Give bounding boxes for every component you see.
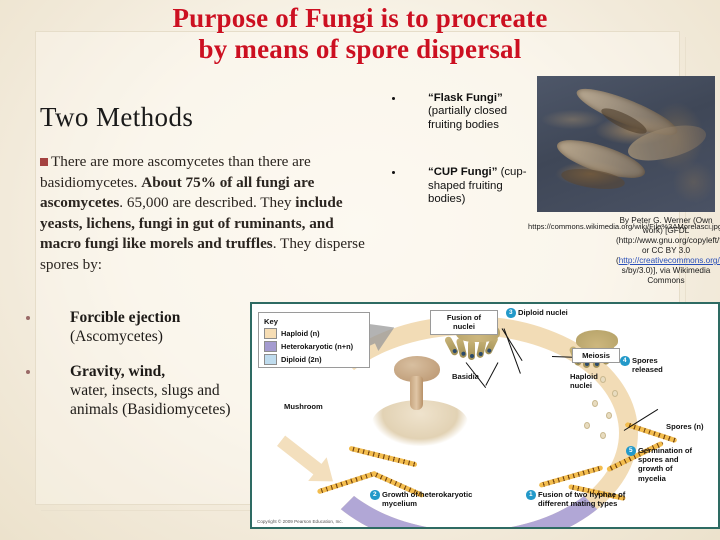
title-line-2: by means of spore dispersal	[60, 34, 660, 65]
basidium	[468, 340, 475, 360]
license-link[interactable]: http://creativecommons.org/license	[619, 256, 720, 265]
bullet-rest-text: (partially closed fruiting bodies	[428, 105, 507, 130]
bullet-bold-label: “Flask Fungi”	[428, 92, 503, 104]
step-badge: 5	[626, 446, 636, 456]
dispersal-methods-list: Forcible ejection (Ascomycetes) Gravity,…	[22, 308, 252, 435]
two-methods-heading: Two Methods	[40, 102, 193, 133]
round-bullet-icon	[392, 171, 395, 174]
round-bullet-icon	[26, 370, 30, 374]
basidia-base	[576, 330, 618, 350]
step-3-diploid-nuclei: 3 Diploid nuclei	[506, 308, 578, 317]
key-swatch-heterokaryotic	[264, 341, 277, 352]
step-1-fusion-hyphae: 1 Fusion of two hyphae of different mati…	[526, 490, 642, 508]
diagram-copyright: Copyright © 2009 Pearson Education, Inc.	[257, 519, 343, 524]
method-heading: Gravity, wind,	[70, 363, 165, 380]
paragraph-part-3: . 65,000 are described. They	[119, 194, 295, 211]
label-mushroom: Mushroom	[284, 402, 323, 411]
key-swatch-diploid	[264, 354, 277, 365]
photo-source-url: https://commons.wikimedia.org/wiki/File%…	[528, 222, 614, 232]
list-item: “CUP Fungi” (cup-shaped fruiting bodies)	[390, 166, 540, 206]
mushroom-stem	[410, 376, 423, 410]
key-title: Key	[264, 317, 364, 326]
method-detail: (Ascomycetes)	[70, 328, 163, 345]
key-entry: Diploid (2n)	[264, 354, 364, 365]
round-bullet-icon	[26, 316, 30, 320]
fungi-type-bullets: “Flask Fungi” (partially closed fruiting…	[390, 92, 540, 240]
bullet-bold-label: “CUP Fungi”	[428, 166, 497, 178]
life-cycle-diagram: Key Haploid (n) Heterokaryotic (n+n) Dip…	[250, 302, 720, 529]
attribution-text-2: s/by/3.0)], via Wikimedia Commons	[622, 266, 711, 285]
list-item: Forcible ejection (Ascomycetes)	[22, 308, 252, 346]
step-4-spores-released: 4 Spores released	[620, 356, 684, 374]
step-text: Diploid nuclei	[518, 308, 568, 317]
step-text: Growth of heterokaryotic mycelium	[382, 490, 472, 508]
key-entry: Haploid (n)	[264, 328, 364, 339]
spore	[592, 400, 598, 407]
step-5-germination: 5 Germination of spores and growth of my…	[626, 446, 700, 483]
label-basidia: Basidia	[452, 372, 479, 381]
method-heading: Forcible ejection	[70, 309, 180, 326]
key-swatch-haploid	[264, 328, 277, 339]
square-bullet-icon	[40, 158, 48, 166]
step-badge: 1	[526, 490, 536, 500]
list-item: Gravity, wind, water, insects, slugs and…	[22, 362, 252, 419]
round-bullet-icon	[392, 97, 395, 100]
intro-paragraph: There are more ascomycetes than there ar…	[40, 152, 370, 275]
key-entry: Heterokaryotic (n+n)	[264, 341, 364, 352]
key-entry-label: Diploid (2n)	[281, 355, 322, 364]
spore	[612, 390, 618, 397]
label-haploid-nuclei: Haploid nuclei	[570, 372, 610, 390]
slide-canvas: Purpose of Fungi is to procreate by mean…	[0, 0, 720, 540]
step-badge: 4	[620, 356, 630, 366]
key-entry-label: Haploid (n)	[281, 329, 320, 338]
slide-title: Purpose of Fungi is to procreate by mean…	[60, 3, 660, 65]
spore	[600, 432, 606, 439]
method-detail: water, insects, slugs and animals (Basid…	[70, 382, 231, 418]
diagram-key: Key Haploid (n) Heterokaryotic (n+n) Dip…	[258, 312, 370, 368]
step-text: Fusion of two hyphae of different mating…	[538, 490, 625, 508]
ascomycete-micrograph-image	[537, 76, 715, 212]
spore	[584, 422, 590, 429]
step-badge: 3	[506, 308, 516, 318]
step-text: Spores released	[632, 356, 663, 374]
list-item: “Flask Fungi” (partially closed fruiting…	[390, 92, 540, 132]
label-spores-n: Spores (n)	[666, 422, 704, 431]
step-badge: 2	[370, 490, 380, 500]
photo-attribution: By Peter G. Werner (Own work) [GFDL (htt…	[616, 216, 716, 286]
spore	[606, 412, 612, 419]
label-meiosis: Meiosis	[572, 348, 620, 363]
step-text: Germination of spores and growth of myce…	[638, 446, 692, 483]
key-entry-label: Heterokaryotic (n+n)	[281, 342, 353, 351]
step-2-growth-heterokaryotic: 2 Growth of heterokaryotic mycelium	[370, 490, 478, 508]
label-fusion-of-nuclei: Fusion of nuclei	[430, 310, 498, 335]
title-line-1: Purpose of Fungi is to procreate	[172, 3, 547, 33]
